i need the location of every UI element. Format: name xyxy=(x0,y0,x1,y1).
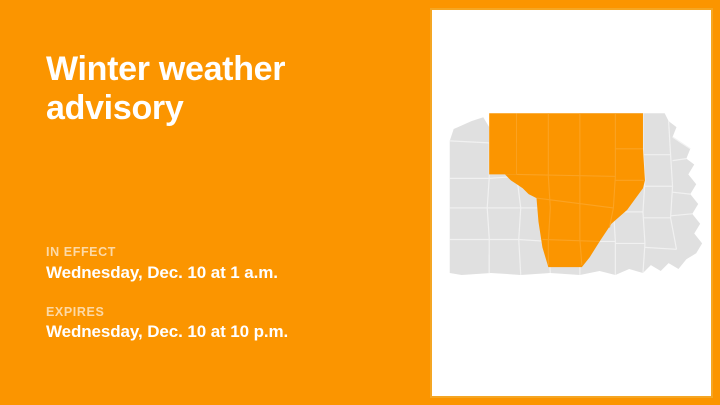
pennsylvania-map xyxy=(432,10,711,396)
weather-advisory-graphic: Winter weather advisory IN EFFECT Wednes… xyxy=(0,0,720,405)
expires-label: EXPIRES xyxy=(46,305,406,321)
timing-group-expires: EXPIRES Wednesday, Dec. 10 at 10 p.m. xyxy=(46,305,406,345)
advisory-panel: Winter weather advisory IN EFFECT Wednes… xyxy=(0,0,430,405)
expires-value: Wednesday, Dec. 10 at 10 p.m. xyxy=(46,321,406,344)
in-effect-value: Wednesday, Dec. 10 at 1 a.m. xyxy=(46,262,406,285)
advisory-timing-block: IN EFFECT Wednesday, Dec. 10 at 1 a.m. E… xyxy=(46,245,406,344)
in-effect-label: IN EFFECT xyxy=(46,245,406,261)
right-edge-accent xyxy=(713,0,720,405)
timing-group-in-effect: IN EFFECT Wednesday, Dec. 10 at 1 a.m. xyxy=(46,245,406,285)
highlight-notch xyxy=(489,113,517,174)
advisory-title: Winter weather advisory xyxy=(46,50,386,129)
map-card xyxy=(430,8,713,398)
